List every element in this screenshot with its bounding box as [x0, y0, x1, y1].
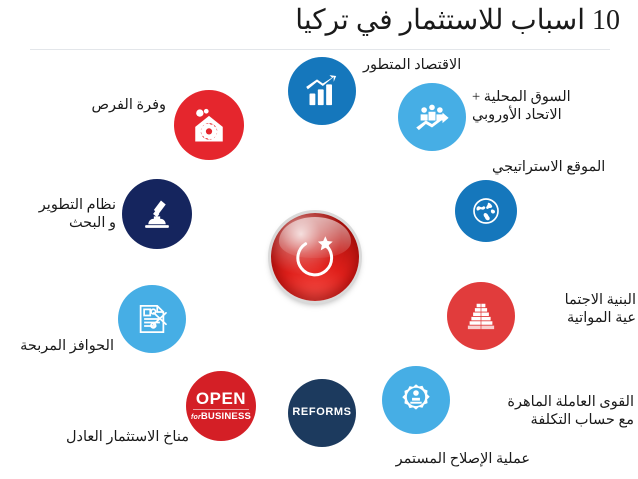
label-rnd-system: نظام التطوير و البحث — [12, 196, 116, 232]
label-line-1: البنية الاجتما — [518, 291, 636, 309]
label-line-1: السوق المحلية + — [472, 88, 638, 106]
reforms-badge-label: REFORMS — [292, 407, 351, 419]
label-line-2: عية المواتية — [518, 309, 636, 327]
crescent-star-icon — [285, 225, 345, 290]
node-strategic-location[interactable] — [455, 180, 517, 242]
label-line-2: و البحث — [12, 214, 116, 232]
document-scissors-icon — [131, 298, 173, 340]
infographic-canvas: 10 اسباب للاستثمار في تركيا الاقتصاد الم… — [0, 0, 638, 479]
label-profitable-incentives: الحوافز المربحة — [4, 337, 114, 355]
label-line-2: مع حساب التكلفة — [460, 411, 634, 429]
label-domestic-market-eu: السوق المحلية + الاتحاد الأوروبي — [472, 88, 638, 124]
turkey-flag-emblem — [271, 213, 359, 301]
node-advanced-economy[interactable] — [288, 57, 356, 125]
label-favorable-social-structure: البنية الاجتما عية المواتية — [518, 291, 636, 327]
label-line-2: الاتحاد الأوروبي — [472, 106, 638, 124]
node-abundance-of-opportunities[interactable] — [174, 90, 244, 160]
node-domestic-market-eu[interactable] — [398, 83, 466, 151]
open-badge-sub: forBUSINESS — [186, 412, 256, 422]
label-advanced-economy: الاقتصاد المتطور — [363, 56, 533, 74]
gear-person-icon — [395, 379, 437, 421]
people-growth-arrow-icon — [411, 96, 453, 138]
page-title: 10 اسباب للاستثمار في تركيا — [18, 2, 620, 40]
house-gear-icon — [187, 103, 231, 147]
label-line-1: نظام التطوير — [12, 196, 116, 214]
label-line-1: القوى العاملة الماهرة — [460, 393, 634, 411]
open-badge-for: for — [191, 414, 201, 421]
node-continuous-reform-process[interactable]: REFORMS — [288, 379, 356, 447]
node-skilled-cost-effective-labor[interactable] — [382, 366, 450, 434]
globe-icon — [468, 193, 504, 229]
bar-chart-growth-icon — [302, 71, 342, 111]
label-skilled-cost-effective-labor: القوى العاملة الماهرة مع حساب التكلفة — [460, 393, 634, 429]
open-badge-rule — [193, 409, 249, 410]
label-continuous-reform-process: عملية الإصلاح المستمر — [330, 450, 530, 468]
node-fair-investment-climate[interactable]: OPEN forBUSINESS — [186, 371, 256, 441]
node-profitable-incentives[interactable] — [118, 285, 186, 353]
open-badge-business: BUSINESS — [201, 411, 251, 422]
node-rnd-system[interactable] — [122, 179, 192, 249]
open-badge-main: OPEN — [186, 390, 256, 408]
microscope-icon — [138, 195, 176, 233]
label-abundance-of-opportunities: وفرة الفرص — [64, 96, 166, 114]
label-strategic-location: الموقع الاستراتيجي — [492, 158, 638, 176]
node-favorable-social-structure[interactable] — [447, 282, 515, 350]
title-divider — [30, 49, 610, 50]
population-pyramid-icon — [460, 295, 502, 337]
label-fair-investment-climate: مناخ الاستثمار العادل — [47, 428, 189, 446]
